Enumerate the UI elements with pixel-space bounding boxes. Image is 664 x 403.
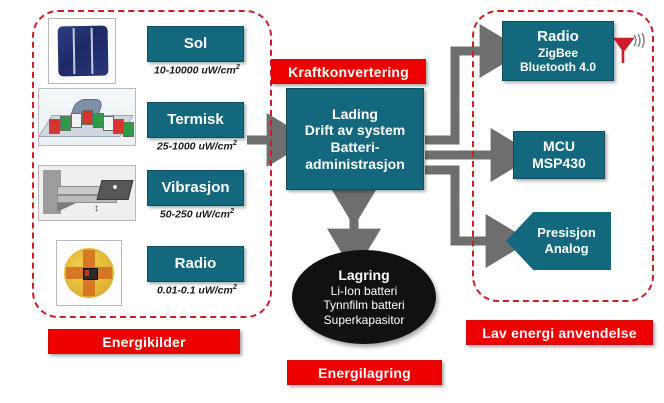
center-line-3: Batteri-: [330, 139, 379, 156]
rf-antenna-chip-photo: [56, 240, 122, 306]
source-label: Radio: [175, 255, 217, 273]
source-power-density-sol: 10-10000 uW/cm2: [147, 62, 247, 77]
source-power-density-radio: 0.01-0.1 uW/cm2: [147, 282, 247, 297]
label-text: Energilagring: [318, 365, 411, 381]
source-power-density-termisk: 25-1000 uW/cm2: [147, 138, 247, 153]
unit-exponent: 2: [233, 138, 237, 147]
unit-value: 10-10000: [154, 65, 198, 77]
source-label: Termisk: [167, 111, 223, 129]
label-text: Kraftkonvertering: [288, 64, 409, 80]
source-label: Sol: [184, 35, 207, 53]
application-title: MCU: [543, 138, 575, 155]
application-line-2: Bluetooth 4.0: [520, 60, 596, 74]
energy-storage-oval[interactable]: Lagring Li-Ion batteri Tynnfilm batteri …: [292, 250, 436, 344]
storage-line-1: Li-Ion batteri: [331, 284, 398, 299]
unit-text: uW/cm: [198, 285, 232, 297]
application-line-1: ZigBee: [538, 46, 578, 60]
unit-value: 50-250: [160, 209, 193, 221]
application-line-1: MSP430: [532, 155, 586, 172]
label-text: Energikilder: [102, 334, 185, 350]
source-box-vibrasjon[interactable]: Vibrasjon: [147, 170, 244, 206]
thermoelectric-module-icon: [39, 89, 135, 145]
center-line-2: Drift av system: [305, 122, 405, 139]
center-line-4: administrasjon: [305, 156, 405, 173]
power-conversion-box[interactable]: Lading Drift av system Batteri- administ…: [286, 88, 424, 190]
label-lav-energi-anvendelse: Lav energi anvendelse: [466, 320, 653, 345]
source-box-radio[interactable]: Radio: [147, 246, 244, 282]
source-box-termisk[interactable]: Termisk: [147, 102, 244, 138]
label-kraftkonvertering: Kraftkonvertering: [271, 59, 426, 84]
unit-exponent: 2: [230, 206, 234, 215]
storage-line-3: Superkapasitor: [324, 313, 405, 328]
diagram-canvas: ↕ Sol 10-10000 uW/cm2 Termisk 25-1000 uW…: [0, 0, 664, 403]
rf-chip-icon: [64, 248, 114, 298]
solar-cell-photo: [48, 18, 116, 84]
label-text: Lav energi anvendelse: [482, 325, 636, 341]
unit-exponent: 2: [233, 282, 237, 291]
application-title: Radio: [537, 28, 579, 46]
application-box-mcu[interactable]: MCU MSP430: [513, 131, 605, 179]
unit-exponent: 2: [236, 62, 240, 71]
vibration-harvester-icon: ↕: [39, 166, 135, 220]
vibration-harvester-photo: ↕: [38, 165, 136, 221]
thermoelectric-module-photo: [38, 88, 136, 146]
solar-cell-icon: [58, 26, 109, 77]
source-label: Vibrasjon: [161, 179, 229, 197]
unit-value: 25-1000: [157, 141, 196, 153]
center-line-1: Lading: [332, 106, 378, 123]
unit-text: uW/cm: [201, 65, 235, 77]
unit-value: 0.01-0.1: [157, 285, 196, 297]
application-title: Presisjon: [537, 225, 596, 241]
storage-title: Lagring: [338, 267, 389, 284]
unit-text: uW/cm: [198, 141, 232, 153]
unit-text: uW/cm: [196, 209, 230, 221]
application-box-radio[interactable]: Radio ZigBee Bluetooth 4.0: [502, 21, 614, 81]
storage-line-2: Tynnfilm batteri: [323, 298, 404, 313]
antenna-icon: [610, 33, 650, 67]
application-line-1: Analog: [544, 241, 588, 257]
source-power-density-vibrasjon: 50-250 uW/cm2: [147, 206, 247, 221]
source-box-sol[interactable]: Sol: [147, 26, 244, 62]
label-energikilder: Energikilder: [48, 329, 240, 354]
label-energilagring: Energilagring: [287, 360, 442, 385]
